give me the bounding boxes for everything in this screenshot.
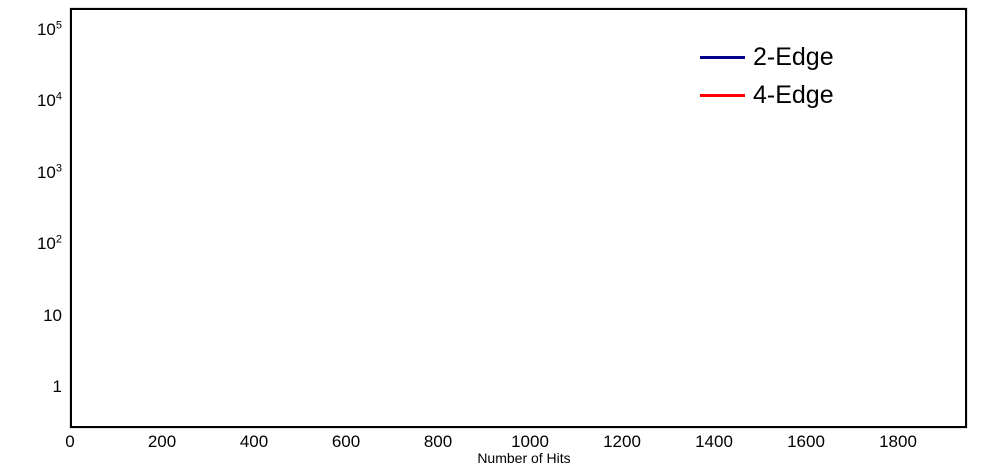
x-tick-1400: 1400 <box>695 432 733 452</box>
y-tick-1: 1 <box>53 377 62 397</box>
legend-entry-2-edge[interactable]: 2-Edge <box>700 38 930 76</box>
x-tick-800: 800 <box>424 432 452 452</box>
x-tick-0: 0 <box>65 432 74 452</box>
y-tick-10: 10 <box>43 306 62 326</box>
legend-swatch-2-edge <box>700 56 745 59</box>
y-tick-10^4: 104 <box>37 91 62 111</box>
legend-swatch-4-edge <box>700 94 745 97</box>
x-tick-1200: 1200 <box>603 432 641 452</box>
legend-label-2-edge: 2-Edge <box>753 45 834 70</box>
x-tick-1600: 1600 <box>787 432 825 452</box>
x-tick-1800: 1800 <box>879 432 917 452</box>
x-tick-200: 200 <box>148 432 176 452</box>
y-tick-10^2: 102 <box>37 234 62 254</box>
y-tick-10^3: 103 <box>37 163 62 183</box>
x-tick-1000: 1000 <box>511 432 549 452</box>
x-tick-600: 600 <box>332 432 360 452</box>
x-axis-title-text: Number of Hits <box>477 450 570 466</box>
legend-entry-4-edge[interactable]: 4-Edge <box>700 76 930 114</box>
y-tick-10^5: 105 <box>37 20 62 40</box>
x-axis-title: Number of Hits <box>0 450 996 466</box>
legend-label-4-edge: 4-Edge <box>753 83 834 108</box>
x-tick-400: 400 <box>240 432 268 452</box>
chart-root: 020040060080010001200140016001800 110102… <box>0 0 996 472</box>
chart-legend: 2-Edge 4-Edge <box>700 38 930 114</box>
